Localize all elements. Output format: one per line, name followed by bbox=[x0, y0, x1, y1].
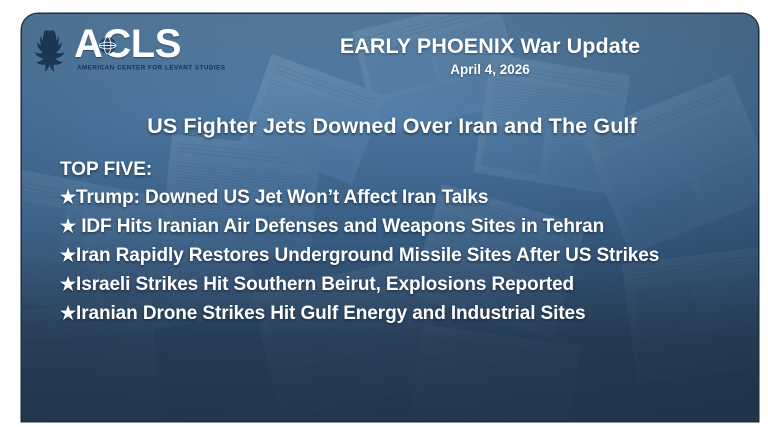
list-item-text: Trump: Downed US Jet Won’t Affect Iran T… bbox=[76, 187, 488, 208]
phoenix-icon bbox=[30, 26, 78, 74]
globe-icon bbox=[98, 36, 117, 55]
list-item-text: Israeli Strikes Hit Southern Beirut, Exp… bbox=[76, 274, 574, 295]
list-item-text: Iranian Drone Strikes Hit Gulf Energy an… bbox=[76, 303, 585, 324]
top-five-label: TOP FIVE: bbox=[60, 156, 742, 183]
poster: ACLS AMERICAN CENTER FOR LEVANT STUDIES … bbox=[0, 0, 768, 427]
star-icon: ★ bbox=[60, 187, 76, 207]
top-five-block: TOP FIVE: ★Trump: Downed US Jet Won’t Af… bbox=[60, 156, 742, 328]
acls-logo-subtitle: AMERICAN CENTER FOR LEVANT STUDIES bbox=[77, 64, 234, 71]
acls-logo-text: ACLS AMERICAN CENTER FOR LEVANT STUDIES bbox=[74, 24, 234, 71]
poster-header: ACLS AMERICAN CENTER FOR LEVANT STUDIES … bbox=[22, 14, 758, 92]
star-icon: ★ bbox=[60, 303, 76, 323]
poster-content: ACLS AMERICAN CENTER FOR LEVANT STUDIES … bbox=[22, 14, 758, 421]
list-item: ★Iranian Drone Strikes Hit Gulf Energy a… bbox=[60, 299, 742, 328]
list-item: ★Iran Rapidly Restores Underground Missi… bbox=[60, 241, 742, 270]
poster-title: EARLY PHOENIX War Update bbox=[232, 34, 748, 59]
list-item: ★Trump: Downed US Jet Won’t Affect Iran … bbox=[60, 183, 742, 212]
star-icon: ★ bbox=[60, 245, 76, 265]
main-headline: US Fighter Jets Downed Over Iran and The… bbox=[46, 114, 738, 139]
poster-date: April 4, 2026 bbox=[232, 60, 748, 79]
list-item-text: Iran Rapidly Restores Underground Missil… bbox=[76, 245, 659, 266]
content-card: ACLS AMERICAN CENTER FOR LEVANT STUDIES … bbox=[22, 14, 758, 421]
list-item: ★ IDF Hits Iranian Air Defenses and Weap… bbox=[60, 212, 742, 241]
acls-logo[interactable]: ACLS AMERICAN CENTER FOR LEVANT STUDIES bbox=[30, 24, 230, 82]
star-icon: ★ bbox=[60, 274, 76, 294]
list-item: ★Israeli Strikes Hit Southern Beirut, Ex… bbox=[60, 270, 742, 299]
star-icon: ★ bbox=[60, 216, 76, 236]
list-item-text: IDF Hits Iranian Air Defenses and Weapon… bbox=[81, 216, 604, 237]
title-block: EARLY PHOENIX War Update April 4, 2026 bbox=[232, 34, 748, 79]
